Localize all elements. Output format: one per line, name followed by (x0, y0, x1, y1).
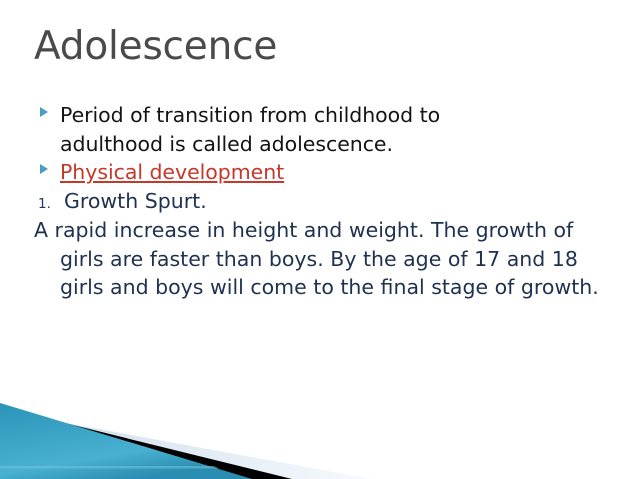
slide-body: Period of transition from childhood to a… (34, 101, 614, 302)
slide-canvas: Adolescence Period of transition from ch… (0, 0, 638, 479)
bullet-item-1: Period of transition from childhood to a… (34, 101, 530, 158)
numbered-item-1-marker: 1. (38, 190, 51, 219)
bullet-item-2-label: Physical development (60, 158, 614, 187)
page-title: Adolescence (34, 24, 594, 70)
numbered-item-1-label: Growth Spurt. (64, 189, 207, 213)
triangle-bullet-icon (40, 164, 48, 174)
triangle-bullet-icon (40, 107, 48, 117)
teal-triangle-shape (0, 403, 252, 479)
bottom-left-angles-graphic (0, 389, 638, 479)
pale-wedge-shape (0, 411, 372, 479)
numbered-item-1: 1. Growth Spurt. (34, 187, 614, 216)
bullet-item-2: Physical development (34, 158, 614, 187)
teal-highlight-line (0, 466, 219, 469)
bullet-item-1-label: Period of transition from childhood to a… (60, 101, 530, 158)
black-wedge-shape (0, 407, 292, 479)
body-paragraph: A rapid increase in height and weight. T… (34, 216, 614, 302)
